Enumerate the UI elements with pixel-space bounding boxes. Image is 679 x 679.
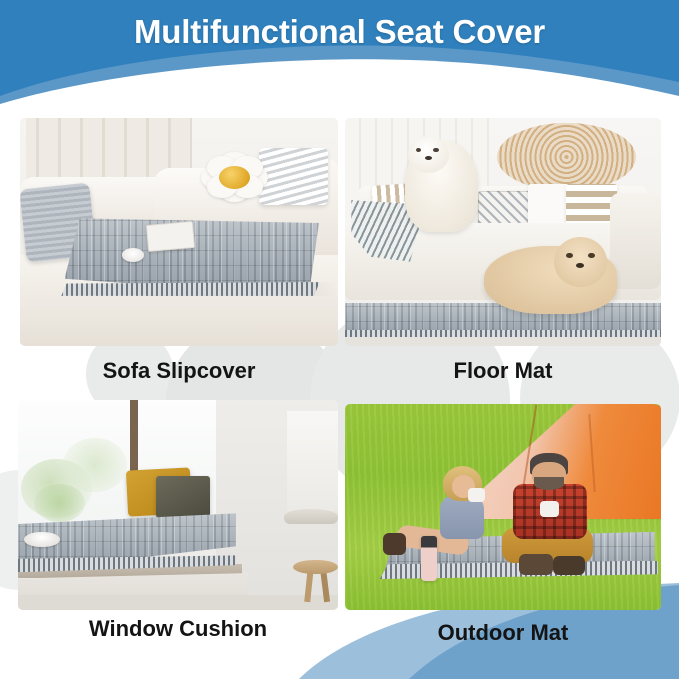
page-title: Multifunctional Seat Cover	[0, 13, 679, 51]
mat-fringe-edge	[61, 282, 322, 296]
panel-outdoor-mat[interactable]: Outdoor Mat	[345, 404, 661, 610]
photo-window-cushion	[18, 400, 338, 610]
person-woman	[433, 466, 503, 565]
photo-sofa-slipcover	[20, 118, 338, 346]
rattan-wall-art	[497, 123, 636, 191]
striped-pillow	[566, 184, 617, 227]
wooden-stool	[293, 560, 338, 575]
teacup-prop	[122, 248, 144, 262]
person-man	[509, 453, 604, 572]
cup-prop	[468, 488, 485, 503]
striped-pillow	[259, 148, 329, 205]
panel-label-window-cushion: Window Cushion	[18, 616, 338, 642]
panel-label-sofa-slipcover: Sofa Slipcover	[20, 358, 338, 384]
panel-floor-mat[interactable]: Floor Mat	[345, 118, 661, 346]
cup-prop	[540, 501, 559, 517]
side-table	[284, 509, 338, 524]
saucer-prop	[24, 532, 59, 547]
photo-outdoor-mat	[345, 404, 661, 610]
olive-pillow	[156, 476, 210, 518]
panel-sofa-slipcover[interactable]: Sofa Slipcover	[20, 118, 338, 346]
book-prop	[146, 221, 195, 252]
photo-floor-mat	[345, 118, 661, 346]
flower-cushion	[201, 152, 268, 202]
panel-label-floor-mat: Floor Mat	[345, 358, 661, 384]
thermos-bottle	[421, 536, 437, 581]
panel-window-cushion[interactable]: Window Cushion	[18, 400, 338, 610]
panel-label-outdoor-mat: Outdoor Mat	[345, 620, 661, 646]
header-banner: Multifunctional Seat Cover	[0, 0, 679, 108]
product-use-case-grid: Sofa Slipcover	[0, 108, 679, 679]
